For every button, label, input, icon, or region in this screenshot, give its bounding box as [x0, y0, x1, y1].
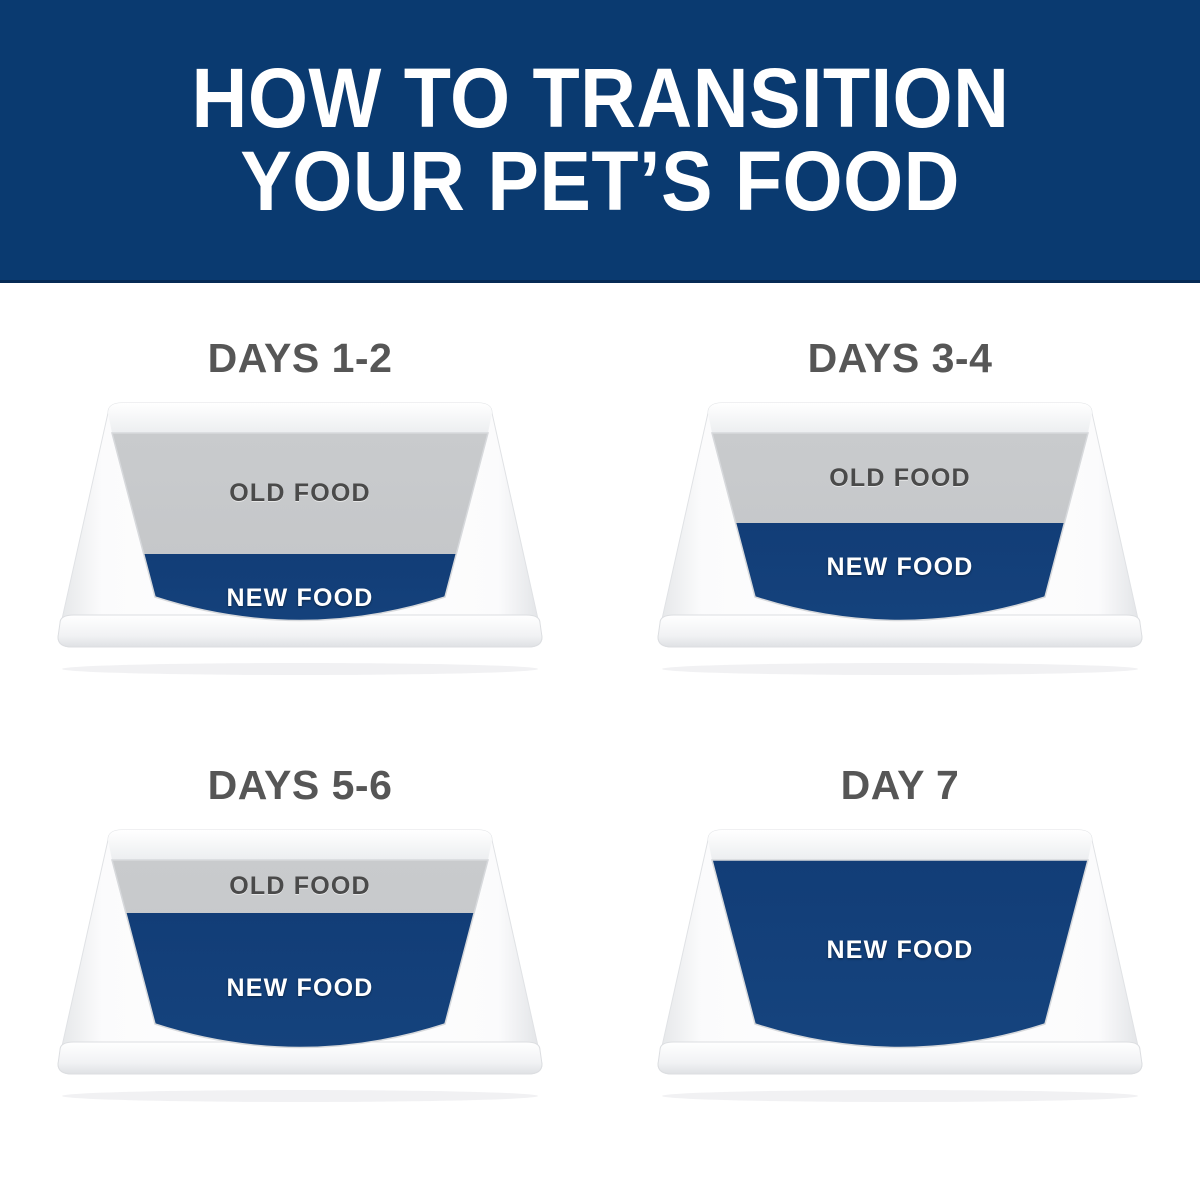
step-card-day-7: DAY 7	[600, 710, 1200, 1168]
bowl-shadow	[62, 1090, 538, 1102]
bowl-rim	[108, 403, 492, 433]
step-day-label: DAYS 1-2	[0, 335, 600, 382]
header-banner: HOW TO TRANSITION YOUR PET’S FOOD	[0, 0, 1200, 283]
page-title-line-1: HOW TO TRANSITION	[191, 57, 1009, 140]
step-day-label: DAY 7	[600, 762, 1200, 809]
food-bowl-days-1-2: OLD FOOD NEW FOOD	[50, 401, 550, 676]
bowl-rim	[708, 403, 1092, 433]
step-card-days-3-4: DAYS 3-4	[600, 283, 1200, 741]
bowl-shadow	[662, 663, 1138, 675]
infographic-page: HOW TO TRANSITION YOUR PET’S FOOD DAYS 1…	[0, 0, 1200, 1200]
food-bowl-day-7: NEW FOOD	[650, 828, 1150, 1103]
step-card-days-1-2: DAYS 1-2	[0, 283, 600, 741]
bowl-shadow	[62, 663, 538, 675]
bowl-graphic	[650, 828, 1150, 1103]
page-title-line-2: YOUR PET’S FOOD	[240, 140, 960, 223]
bowl-shadow	[662, 1090, 1138, 1102]
bowl-rim	[708, 830, 1092, 860]
bowl-rim	[108, 830, 492, 860]
bowl-graphic	[50, 401, 550, 676]
transition-steps-grid: DAYS 1-2	[0, 283, 1200, 1200]
step-day-label: DAYS 5-6	[0, 762, 600, 809]
bowl-graphic	[650, 401, 1150, 676]
step-card-days-5-6: DAYS 5-6	[0, 710, 600, 1168]
step-day-label: DAYS 3-4	[600, 335, 1200, 382]
bowl-graphic	[50, 828, 550, 1103]
food-bowl-days-5-6: OLD FOOD NEW FOOD	[50, 828, 550, 1103]
food-bowl-days-3-4: OLD FOOD NEW FOOD	[650, 401, 1150, 676]
